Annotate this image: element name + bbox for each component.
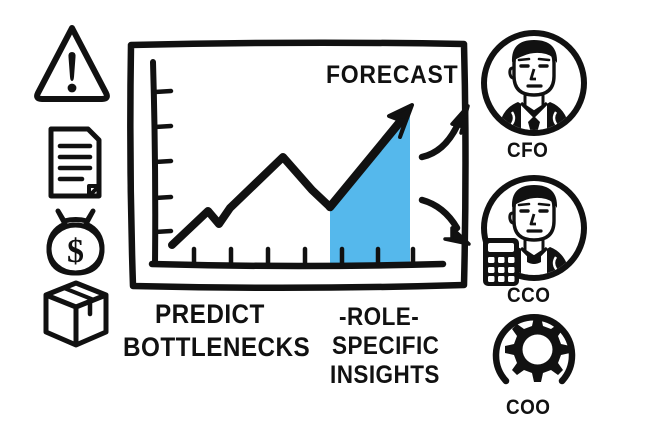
role-label-cco: CCO bbox=[507, 284, 550, 308]
role-label-cfo: CFO bbox=[507, 139, 548, 163]
forecast-label: FORECAST bbox=[326, 61, 458, 90]
caption-insights-line2: SPECIFIC bbox=[332, 332, 439, 361]
text-layer: FORECAST PREDICT BOTTLENECKS -ROLE- SPEC… bbox=[0, 0, 645, 430]
role-label-coo: COO bbox=[506, 396, 550, 420]
caption-insights-line1: -ROLE- bbox=[339, 303, 419, 332]
caption-insights-line3: INSIGHTS bbox=[330, 361, 440, 390]
infographic-canvas: $ bbox=[0, 0, 645, 430]
caption-predict-line1: PREDICT bbox=[155, 299, 265, 330]
caption-predict-line2: BOTTLENECKS bbox=[123, 332, 310, 363]
